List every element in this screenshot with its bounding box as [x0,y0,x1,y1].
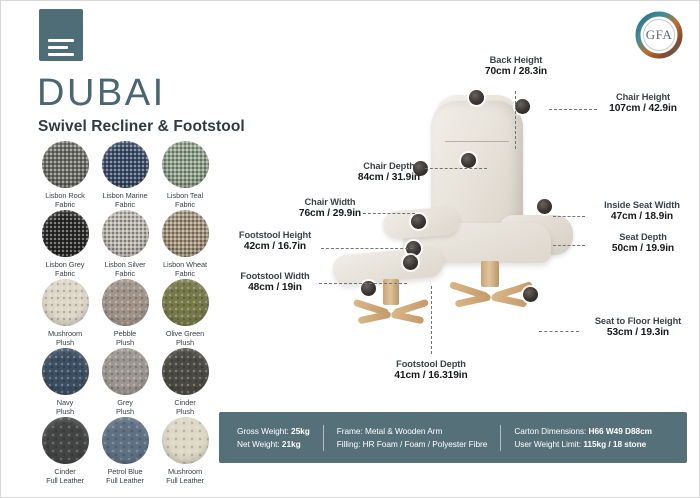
spec-line: Gross Weight: 25kg [237,425,310,437]
callout-chair-height: Chair Height 107cm / 42.9in [591,92,695,114]
swatch-label: Lisbon Marine Fabric [102,191,147,210]
measure-dot-footstool-width [403,255,418,270]
swatch-colour-disc [42,279,89,326]
callout-chair-width: Chair Width 76cm / 29.9in [282,197,378,219]
swatch-label: Cinder Plush [174,398,195,417]
swatch-label: Mushroom Plush [48,329,82,348]
swatch-colour-disc [102,279,149,326]
gfa-roundel-icon: GFA [633,9,685,61]
colour-swatch-grid: Lisbon Rock FabricLisbon Marine FabricLi… [35,141,215,486]
swatch-colour-disc [102,141,149,188]
measure-dot-back-height [469,90,484,105]
spec-column: Gross Weight: 25kgNet Weight: 21kg [219,425,323,450]
measure-dot-seat-depth [411,214,426,229]
swatch-item[interactable]: Lisbon Marine Fabric [95,141,155,210]
callout-footstool-height: Footstool Height 42cm / 16.7in [223,230,327,252]
swatch-colour-disc [42,348,89,395]
swatch-label: Lisbon Grey Fabric [46,260,85,279]
leader-footstool-width [319,283,407,284]
spec-line: User Weight Limit: 115kg / 18 stone [514,438,652,450]
leader-back-height [515,91,516,149]
swatch-item[interactable]: Lisbon Teal Fabric [155,141,215,210]
swatch-row: Mushroom PlushPebble PlushOlive Green Pl… [35,279,215,348]
swatch-item[interactable]: Pebble Plush [95,279,155,348]
measure-dot-seat-to-floor [523,287,538,302]
swatch-item[interactable]: Olive Green Plush [155,279,215,348]
page-title: DUBAI [37,74,166,112]
swatch-colour-disc [162,210,209,257]
swatch-item[interactable]: Lisbon Wheat Fabric [155,210,215,279]
swatch-colour-disc [162,348,209,395]
swatch-item[interactable]: Grey Plush [95,348,155,417]
swatch-row: Cinder Full LeatherPetrol Blue Full Leat… [35,417,215,486]
swatch-item[interactable]: Mushroom Full Leather [155,417,215,486]
spec-line: Frame: Metal & Wooden Arm [337,425,488,437]
swatch-label: Grey Plush [116,398,134,417]
product-spec-sheet: GFA DUBAI Swivel Recliner & Footstool Li… [0,0,700,498]
page-subtitle: Swivel Recliner & Footstool [38,118,245,136]
swatch-item[interactable]: Lisbon Grey Fabric [35,210,95,279]
gfa-logo-text: GFA [633,9,685,61]
spec-line: Carton Dimensions: H66 W49 D88cm [514,425,652,437]
swatch-label: Olive Green Plush [166,329,204,348]
swatch-colour-disc [42,417,89,464]
spec-column: Carton Dimensions: H66 W49 D88cmUser Wei… [501,425,665,450]
swatch-label: Cinder Full Leather [46,467,84,486]
swatch-colour-disc [162,141,209,188]
swatch-row: Lisbon Rock FabricLisbon Marine FabricLi… [35,141,215,210]
callout-back-height: Back Height 70cm / 28.3in [467,55,565,77]
leader-footstool-depth [431,286,432,354]
callout-seat-depth: Seat Depth 50cm / 19.9in [593,232,693,254]
product-photo [331,91,601,376]
swatch-colour-disc [102,210,149,257]
chair-swivel-base [449,283,533,305]
swatch-item[interactable]: Petrol Blue Full Leather [95,417,155,486]
leader-chair-height [549,109,597,110]
spec-line: Net Weight: 21kg [237,438,310,450]
callout-footstool-width: Footstool Width 48cm / 19in [225,271,325,293]
callout-footstool-depth: Footstool Depth 41cm / 16.319in [373,359,489,381]
measure-dot-inside-seat [537,199,552,214]
swatch-label: Navy Plush [56,398,74,417]
measure-dot-chair-depth [461,153,476,168]
measure-dot-chair-height [515,99,530,114]
swatch-label: Lisbon Silver Fabric [104,260,145,279]
swatch-colour-disc [102,348,149,395]
callout-inside-seat-width: Inside Seat Width 47cm / 18.9in [587,200,697,222]
swatch-label: Mushroom Full Leather [166,467,204,486]
swatch-colour-disc [162,417,209,464]
swatch-colour-disc [162,279,209,326]
leader-seat-to-floor [539,331,579,332]
swatch-row: Lisbon Grey FabricLisbon Silver FabricLi… [35,210,215,279]
swatch-item[interactable]: Mushroom Plush [35,279,95,348]
swatch-colour-disc [42,141,89,188]
swatch-colour-disc [42,210,89,257]
spec-column: Frame: Metal & Wooden ArmFilling: HR Foa… [324,425,501,450]
document-lines-icon [39,9,83,61]
swatch-label: Petrol Blue Full Leather [106,467,144,486]
swatch-label: Pebble Plush [114,329,136,348]
swatch-row: Navy PlushGrey PlushCinder Plush [35,348,215,417]
swatch-colour-disc [102,417,149,464]
swatch-item[interactable]: Lisbon Silver Fabric [95,210,155,279]
leader-seat-depth [553,245,585,246]
specification-bar: Gross Weight: 25kgNet Weight: 21kgFrame:… [219,412,687,463]
swatch-item[interactable]: Cinder Full Leather [35,417,95,486]
callout-chair-depth: Chair Depth 84cm / 31.9in [341,161,437,183]
leader-inside-seat [553,216,585,217]
swatch-item[interactable]: Navy Plush [35,348,95,417]
footstool-swivel-base [353,301,429,323]
swatch-label: Lisbon Teal Fabric [167,191,203,210]
swatch-label: Lisbon Wheat Fabric [163,260,207,279]
swatch-label: Lisbon Rock Fabric [45,191,85,210]
swatch-item[interactable]: Lisbon Rock Fabric [35,141,95,210]
spec-line: Filling: HR Foam / Foam / Polyester Fibr… [337,438,488,450]
swatch-item[interactable]: Cinder Plush [155,348,215,417]
callout-seat-to-floor-height: Seat to Floor Height 53cm / 19.3in [579,316,697,338]
leader-footstool-height [321,248,413,249]
